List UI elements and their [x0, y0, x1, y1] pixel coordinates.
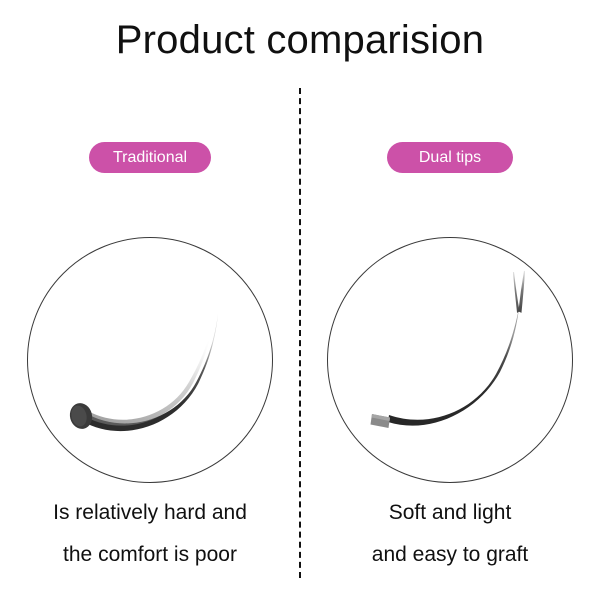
product-comparison-page: Product comparision Traditional [0, 0, 600, 600]
comparison-column-traditional: Traditional [0, 0, 300, 600]
dual-tips-lash-illustration [326, 236, 574, 484]
badge-traditional: Traditional [89, 142, 211, 173]
lash-tip-outer [514, 272, 520, 312]
circle-outline [28, 238, 273, 483]
caption-line: Is relatively hard and [0, 492, 300, 534]
caption-line: the comfort is poor [0, 534, 300, 576]
badge-dual-tips: Dual tips [387, 142, 513, 173]
circle-outline [328, 238, 573, 483]
caption-traditional: Is relatively hard and the comfort is po… [0, 492, 300, 576]
lash-highlight [86, 316, 215, 426]
lash-tip-inner [519, 271, 525, 312]
comparison-column-dual-tips: Dual tips [300, 0, 600, 600]
caption-line: and easy to graft [300, 534, 600, 576]
caption-line: Soft and light [300, 492, 600, 534]
lash-body [388, 308, 519, 426]
caption-dual-tips: Soft and light and easy to graft [300, 492, 600, 576]
traditional-lash-illustration [26, 236, 274, 484]
